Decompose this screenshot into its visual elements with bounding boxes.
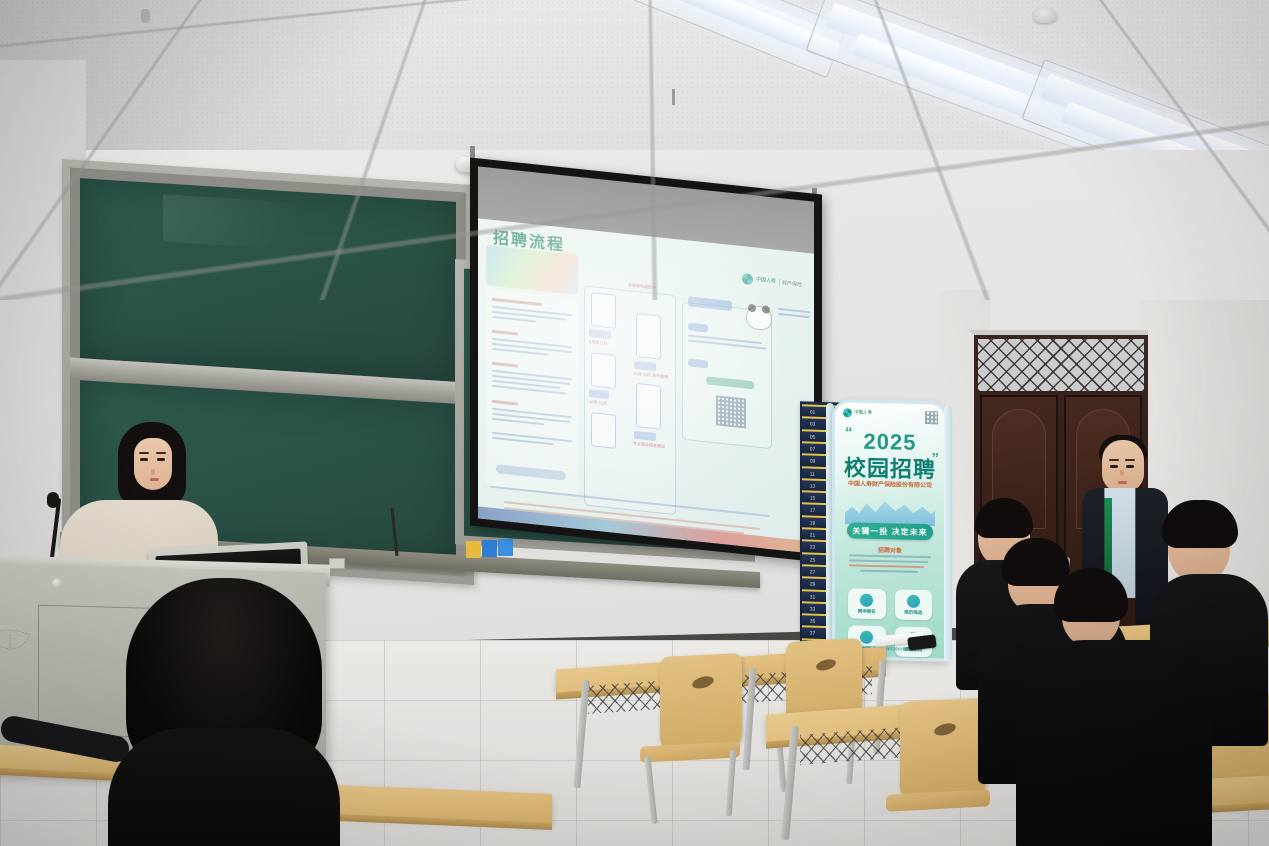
banner-quote-close: ” [932,450,940,467]
slide-step-card-3 [591,412,616,449]
banner-card-label: 网申报名 [858,608,876,614]
slide-illustration [486,245,578,295]
banner-text-line [860,570,917,573]
presenter-brow [139,452,149,454]
chair-handle-hole [691,674,715,690]
banner-card-1: 网申报名 [848,588,886,619]
ceiling-hook-icon [141,9,150,23]
person-mouth [1118,481,1127,484]
banner-logo-text: 中国人寿 [854,411,872,416]
banner-body-text-block [849,554,931,576]
chalk-box-yellow[interactable] [466,541,481,558]
china-life-division-text: 财产保险 [779,279,802,288]
lectern-logo-svg [0,623,32,654]
chalk-box-blue-2[interactable] [498,539,513,556]
presenter-face [134,438,172,490]
person-head [1102,440,1144,492]
presenter-head [124,428,180,500]
person-brow [1125,459,1135,461]
person-nose [1120,470,1124,476]
chalk-box-blue-1[interactable] [482,540,497,557]
china-life-logo-mark-icon [742,273,753,285]
chair-3[interactable] [900,698,986,803]
presenter-brow [156,452,166,454]
slide-step-card-4 [636,313,661,360]
smoke-detector-icon [1033,8,1057,23]
banner-text-line [849,559,928,563]
presenter-eye [140,458,148,461]
banner-card-2: 简历筛选 [895,589,933,620]
chair-handle-hole [933,721,957,737]
lectern-knob-icon[interactable] [52,578,63,589]
blackboard-sheen [163,194,336,252]
banner-slogan-container: 关键一投 决定未来 [847,522,933,540]
lattice-grille-icon [978,339,1144,391]
china-life-logo-mark-icon [843,408,852,417]
rollup-banner-stand: 中国人寿 “ 2025 校园招聘 ” 中国人寿财产保险股份有限公司 关键一投 决… [806,398,946,661]
presenter-eye [157,458,165,461]
ceiling-rod [672,89,675,105]
list-icon [907,594,920,607]
china-life-logo-icon: 中国人寿 财产保险 [742,273,802,290]
qr-code-icon[interactable] [716,395,746,428]
slide-step-card-1 [591,292,616,329]
banner-slogan: 关键一投 决定未来 [852,525,927,538]
presenter-nose [151,469,155,475]
person-eye [1126,465,1134,468]
chair-handle-hole [815,657,837,672]
slide-step-card-2 [591,352,616,389]
banner-city-skyline-graphic [845,494,935,526]
foreground-student-shoulders [108,728,340,846]
presentation-slide: 招聘流程 中国人寿 财产保险 9月至11月 [478,218,814,553]
banner-leg-right [944,406,952,662]
banner-panel: 中国人寿 “ 2025 校园招聘 ” 中国人寿财产保险股份有限公司 关键一投 决… [832,399,948,662]
student-body [1016,640,1212,846]
person-brow [1109,459,1119,461]
document-icon [860,593,873,606]
microphone-icon[interactable] [47,492,59,508]
door-transom-window [978,339,1144,391]
banner-text-line [849,564,924,568]
banner-qr-code-icon[interactable] [925,411,938,424]
chair-1[interactable] [660,653,742,753]
student-hair [1162,500,1238,548]
banner-company-name: 中国人寿财产保险股份有限公司 [835,478,945,489]
banner-card-label: 简历筛选 [904,609,922,615]
blackboard-panel-upper [80,178,456,382]
star-icon [860,630,873,643]
classroom-scene: 招聘流程 中国人寿 财产保险 9月至11月 [0,0,1269,846]
lectern-logo-icon [0,623,32,654]
slide-watermark [654,423,662,450]
presenter-mouth [150,478,159,481]
person-eye [1110,465,1118,468]
slide-text-line [778,313,810,318]
banner-logo-icon: 中国人寿 [843,408,872,418]
foreground-student [108,578,340,846]
ledge-bracket-2 [329,558,345,569]
china-life-logo-text: 中国人寿 [756,277,776,285]
